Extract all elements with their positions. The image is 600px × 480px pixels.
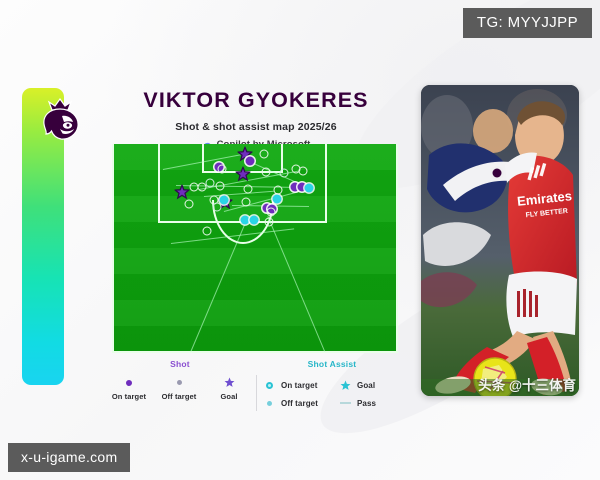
card-subtitle: Shot & shot assist map 2025/26 xyxy=(104,121,408,133)
tg-badge: TG: MYYJJPP xyxy=(463,8,592,38)
legend-item-shot-on-target: On target xyxy=(104,377,154,401)
legend-label: Goal xyxy=(357,381,375,390)
shot-marker xyxy=(185,200,194,209)
shot-marker xyxy=(243,184,252,193)
legend-label: On target xyxy=(281,381,317,390)
shot-marker xyxy=(217,165,226,174)
legend-heading-shot-assist: Shot Assist xyxy=(256,359,408,369)
goal-star-marker xyxy=(235,167,250,182)
small-dot-icon xyxy=(174,377,185,388)
shot-marker xyxy=(273,194,282,203)
legend-item-shot-off-target: Off target xyxy=(154,377,204,401)
shot-map-pitch xyxy=(112,144,398,353)
small-dot-icon xyxy=(264,398,275,409)
legend-divider xyxy=(256,375,257,411)
premier-league-lion-icon xyxy=(38,96,86,148)
star-icon xyxy=(224,377,235,388)
filled-dot-icon xyxy=(124,377,135,388)
legend-item-assist-pass: Pass xyxy=(340,398,408,409)
shot-marker xyxy=(279,169,288,178)
shot-marker xyxy=(246,156,255,165)
shot-marker xyxy=(262,168,271,177)
star-icon xyxy=(340,380,351,391)
shot-marker xyxy=(305,183,314,192)
page-title: VIKTOR GYOKERES xyxy=(104,90,408,112)
shot-marker xyxy=(266,207,275,216)
shot-marker xyxy=(249,216,258,225)
screenshot-root: TG: MYYJJPP VIKTOR GYOKERES Shot & sho xyxy=(0,0,600,480)
shot-marker xyxy=(274,185,283,194)
legend-label: Pass xyxy=(357,399,376,408)
dashed-line-icon xyxy=(340,398,351,409)
legend-headings: Shot Shot Assist xyxy=(104,359,408,373)
shot-marker xyxy=(216,182,225,191)
legend-group-shot: On target Off target Goal xyxy=(104,377,254,401)
legend-item-assist-goal: Goal xyxy=(340,380,408,391)
legend-label: Off target xyxy=(281,399,318,408)
shot-marker xyxy=(259,150,268,159)
ring-dot-icon xyxy=(264,380,275,391)
legend-group-shot-assist: On target Goal Off target Pass xyxy=(264,376,408,412)
pass-line xyxy=(267,215,325,351)
shot-map-card: VIKTOR GYOKERES Shot & shot assist map 2… xyxy=(104,76,408,398)
shot-marker xyxy=(212,202,221,211)
shot-marker xyxy=(203,226,212,235)
shot-marker xyxy=(264,217,273,226)
legend-label: On target xyxy=(112,392,146,401)
legend-heading-shot: Shot xyxy=(104,359,256,369)
shot-marker xyxy=(242,198,251,207)
legend-label: Off target xyxy=(162,392,197,401)
legend-label: Goal xyxy=(220,392,237,401)
player-striking-ball-photo: Emirates FLY BETTER xyxy=(421,85,579,396)
legend: Shot Shot Assist On target Off target xyxy=(104,359,408,373)
shot-marker xyxy=(299,166,308,175)
site-watermark-tag: x-u-igame.com xyxy=(8,443,130,472)
legend-item-assist-off-target: Off target xyxy=(264,398,340,409)
legend-item-shot-goal: Goal xyxy=(204,377,254,401)
photo-watermark: 头条 @十三体育 xyxy=(478,374,576,394)
shot-marker xyxy=(205,178,214,187)
goal-star-marker xyxy=(175,185,190,200)
legend-item-assist-on-target: On target xyxy=(264,380,340,391)
